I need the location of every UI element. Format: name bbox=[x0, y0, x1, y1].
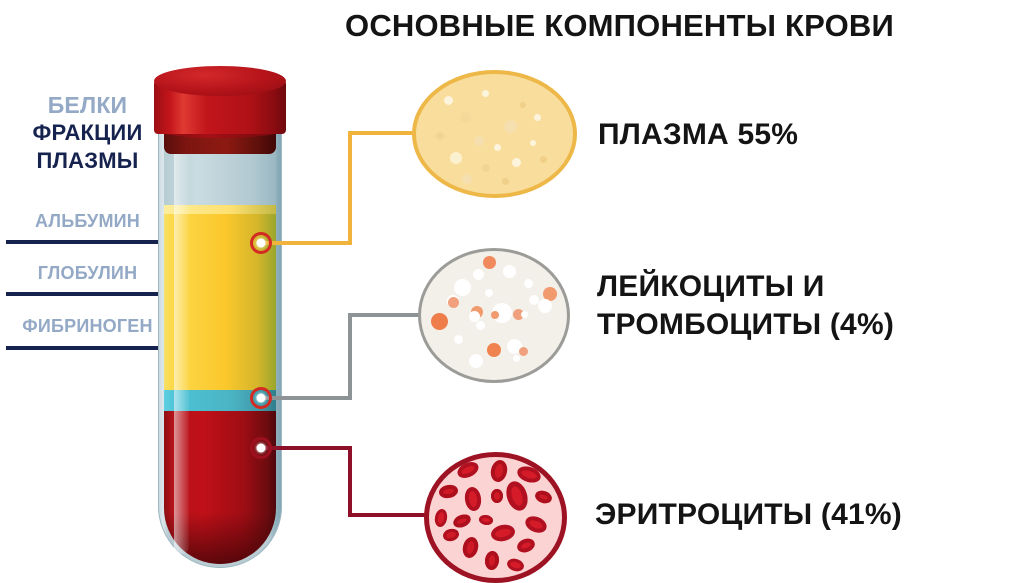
plasma-speck bbox=[534, 114, 541, 121]
plasma-speck bbox=[450, 152, 462, 164]
plasma-speck bbox=[482, 90, 489, 97]
tube-glass-highlight bbox=[174, 134, 189, 554]
callout-label-white-cells-line2: ТРОМБОЦИТЫ (4%) bbox=[597, 306, 894, 344]
erythrocyte bbox=[484, 550, 500, 570]
leukocyte bbox=[521, 311, 528, 318]
erythrocyte bbox=[490, 523, 517, 544]
connector-white-h1 bbox=[262, 396, 352, 400]
plasma-speck bbox=[436, 132, 444, 140]
connector-red-h2 bbox=[348, 513, 433, 517]
erythrocyte bbox=[503, 479, 531, 514]
leukocyte bbox=[513, 355, 520, 362]
erythrocyte bbox=[461, 535, 481, 559]
erythrocyte bbox=[442, 527, 460, 543]
connector-plasma-h1 bbox=[262, 241, 352, 245]
infographic-canvas: ОСНОВНЫЕ КОМПОНЕНТЫ КРОВИ БЕЛКИ ФРАКЦИИ … bbox=[0, 0, 1024, 583]
leukocyte bbox=[524, 279, 533, 288]
erythrocyte bbox=[438, 483, 459, 499]
plasma-speck bbox=[474, 136, 484, 146]
plasma-speck bbox=[504, 120, 517, 133]
plasma-speck bbox=[520, 102, 526, 108]
marker-buffy-coat-dot bbox=[257, 394, 266, 403]
erythrocyte bbox=[523, 513, 549, 535]
connector-white-v bbox=[348, 313, 352, 398]
marker-plasma[interactable] bbox=[250, 232, 272, 254]
erythrocyte bbox=[463, 486, 482, 512]
connector-red-v bbox=[348, 446, 352, 517]
platelet bbox=[431, 313, 448, 330]
red-cells-sample-circle bbox=[424, 452, 567, 583]
plasma-speck bbox=[444, 96, 453, 105]
plasma-speck bbox=[512, 158, 521, 167]
erythrocyte bbox=[515, 536, 536, 554]
erythrocyte bbox=[489, 459, 509, 484]
leukocyte bbox=[503, 265, 516, 278]
callout-label-white-cells-line1: ЛЕЙКОЦИТЫ И bbox=[597, 268, 894, 306]
erythrocyte bbox=[434, 508, 449, 528]
platelet bbox=[448, 297, 459, 308]
white-cells-sample-circle bbox=[418, 248, 570, 383]
platelet bbox=[487, 343, 501, 357]
connector-plasma-v bbox=[348, 131, 352, 243]
callout-label-plasma: ПЛАЗМА 55% bbox=[598, 118, 798, 152]
plasma-speck bbox=[540, 156, 547, 163]
platelet bbox=[491, 311, 499, 319]
erythrocyte bbox=[491, 489, 503, 503]
leukocyte bbox=[469, 354, 483, 368]
marker-plasma-dot bbox=[257, 239, 266, 248]
callout-label-white-cells: ЛЕЙКОЦИТЫ И ТРОМБОЦИТЫ (4%) bbox=[597, 268, 894, 344]
connector-red-h1 bbox=[262, 446, 352, 450]
plasma-speck bbox=[482, 164, 490, 172]
plasma-speck bbox=[494, 144, 501, 151]
marker-buffy-coat[interactable] bbox=[250, 387, 272, 409]
leukocyte bbox=[454, 335, 463, 344]
platelet bbox=[519, 347, 528, 356]
marker-red-cells-dot bbox=[257, 444, 266, 453]
connector-plasma-h2 bbox=[348, 131, 422, 135]
marker-red-cells[interactable] bbox=[250, 437, 272, 459]
plasma-speck bbox=[530, 140, 536, 146]
erythrocyte bbox=[455, 459, 481, 481]
erythrocyte bbox=[478, 514, 493, 526]
connector-white-h2 bbox=[348, 313, 428, 317]
plasma-speck bbox=[462, 174, 472, 184]
page-title: ОСНОВНЫЕ КОМПОНЕНТЫ КРОВИ bbox=[0, 8, 1024, 44]
erythrocyte bbox=[534, 489, 554, 506]
leukocyte bbox=[473, 269, 484, 280]
leukocyte bbox=[454, 279, 471, 296]
plasma-sample-circle bbox=[412, 70, 577, 198]
plasma-speck bbox=[502, 178, 509, 185]
leukocyte bbox=[538, 299, 552, 313]
leukocyte bbox=[485, 289, 493, 297]
callout-label-red-cells: ЭРИТРОЦИТЫ (41%) bbox=[595, 498, 902, 532]
blood-test-tube bbox=[148, 58, 288, 578]
erythrocyte bbox=[506, 557, 526, 573]
platelet bbox=[483, 256, 496, 269]
plasma-speck bbox=[460, 112, 471, 123]
erythrocyte bbox=[451, 512, 472, 530]
tube-cap-top bbox=[154, 66, 286, 96]
leukocyte bbox=[476, 321, 485, 330]
